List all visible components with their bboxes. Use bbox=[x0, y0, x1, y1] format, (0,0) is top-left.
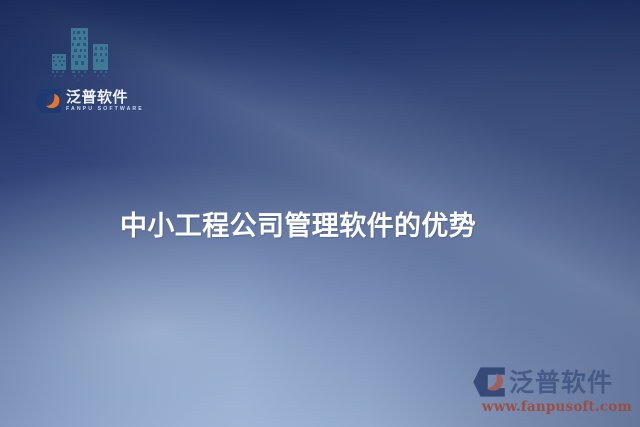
watermark-brand-name: 泛普软件 bbox=[509, 370, 613, 395]
brand-logo: 泛普软件 FANPU SOFTWARE bbox=[34, 88, 144, 114]
brand-name-en: FANPU SOFTWARE bbox=[66, 107, 144, 112]
brand-logo-wordmark: 泛普软件 FANPU SOFTWARE bbox=[66, 90, 144, 112]
pixel-city-skyline-icon bbox=[50, 26, 112, 84]
slide-title: 中小工程公司管理软件的优势 bbox=[120, 211, 476, 243]
watermark-logo-row: 泛普软件 bbox=[472, 366, 632, 398]
watermark-url: www.fanpusoft.com bbox=[472, 399, 632, 415]
fanpu-hexagon-swoosh-logo-icon bbox=[472, 366, 506, 398]
brand-name-cn: 泛普软件 bbox=[66, 90, 144, 105]
site-watermark: 泛普软件 www.fanpusoft.com bbox=[472, 366, 632, 415]
fanpu-hexagon-swoosh-logo-icon bbox=[34, 88, 62, 114]
presentation-slide: 泛普软件 FANPU SOFTWARE 中小工程公司管理软件的优势 泛普软件 w… bbox=[0, 0, 640, 427]
